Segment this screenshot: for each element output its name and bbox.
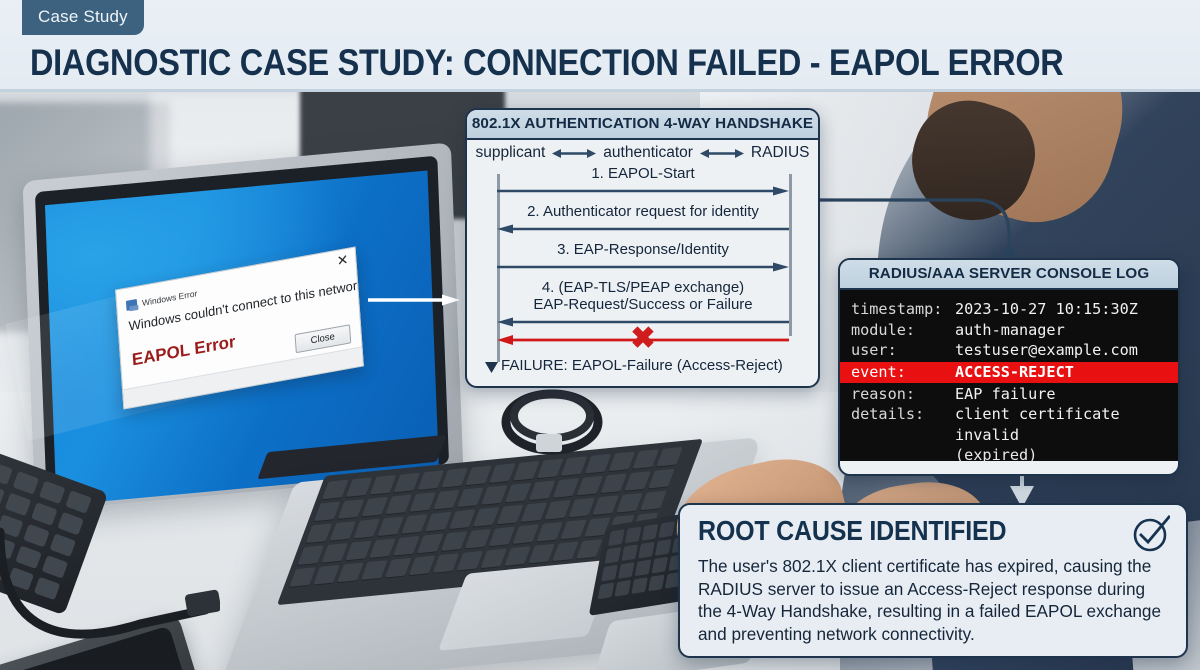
log-row: reason:EAP failure — [851, 384, 1170, 405]
arrow-right-1 — [497, 185, 789, 197]
actor-authenticator: authenticator — [603, 144, 693, 162]
actor-supplicant: supplicant — [476, 144, 546, 162]
arrow-down-icon — [485, 359, 498, 373]
log-row-alert: event:ACCESS-REJECT — [840, 362, 1178, 383]
log-value: EAP failure — [955, 384, 1056, 405]
log-value: client certificate invalid — [955, 404, 1170, 445]
log-row: timestamp:2023-10-27 10:15:30Z — [851, 299, 1170, 320]
page-title: DIAGNOSTIC CASE STUDY: CONNECTION FAILED… — [30, 42, 1063, 84]
console-log-body: timestamp:2023-10-27 10:15:30Zmodule:aut… — [840, 290, 1178, 461]
handshake-step-4: 4. (EAP-TLS/PEAP exchange)EAP-Request/Su… — [497, 280, 789, 327]
actor-radius: RADIUS — [751, 144, 810, 162]
handshake-failure-label: FAILURE: EAPOL-Failure (Access-Reject) — [485, 357, 783, 374]
step-3-label: 3. EAP-Response/Identity — [497, 242, 789, 259]
arrow-left-2 — [497, 223, 789, 235]
lifeline-radius — [789, 174, 792, 336]
log-value: 2023-10-27 10:15:30Z — [955, 299, 1138, 320]
step-1-label: 1. EAPOL-Start — [497, 166, 789, 183]
case-study-badge: Case Study — [22, 0, 144, 35]
log-row: details:client certificate invalid — [851, 404, 1170, 445]
arrow-dialog-to-handshake — [368, 294, 460, 306]
log-row: user:testuser@example.com — [851, 340, 1170, 361]
handshake-step-3: 3. EAP-Response/Identity — [497, 242, 789, 272]
console-log-title: RADIUS/AAA SERVER CONSOLE LOG — [840, 260, 1178, 290]
handshake-failure-arrow: ✖ — [497, 332, 789, 349]
header: Case Study DIAGNOSTIC CASE STUDY: CONNEC… — [0, 0, 1200, 92]
check-circle-icon — [1132, 515, 1170, 553]
handshake-step-2: 2. Authenticator request for identity — [497, 204, 789, 234]
log-value: ACCESS-REJECT — [955, 362, 1074, 383]
dialog-message: Windows couldn't connect to this network — [128, 276, 364, 333]
handshake-body: supplicant authenticator RADIUS 1. EA — [467, 140, 818, 378]
log-value: testuser@example.com — [955, 340, 1138, 361]
handshake-actors: supplicant authenticator RADIUS — [467, 144, 818, 162]
infographic-root: Case Study DIAGNOSTIC CASE STUDY: CONNEC… — [0, 0, 1200, 670]
console-log-panel: RADIUS/AAA SERVER CONSOLE LOG timestamp:… — [838, 258, 1180, 476]
log-key: timestamp: — [851, 299, 955, 320]
arrow-right-3 — [497, 261, 789, 273]
step-4-label: 4. (EAP-TLS/PEAP exchange)EAP-Request/Su… — [497, 280, 789, 314]
failure-x-icon: ✖ — [630, 324, 655, 354]
log-key: details: — [851, 404, 955, 445]
windows-error-icon — [126, 299, 138, 311]
step-2-label: 2. Authenticator request for identity — [497, 204, 789, 221]
dialog-error-code: EAPOL Error — [131, 332, 236, 371]
log-key: event: — [851, 362, 955, 383]
handshake-step-1: 1. EAPOL-Start — [497, 166, 789, 196]
log-row: module:auth-manager — [851, 320, 1170, 341]
bidirectional-arrow-icon-2 — [700, 147, 744, 160]
handshake-panel: 802.1X AUTHENTICATION 4-WAY HANDSHAKE su… — [465, 108, 820, 388]
root-cause-body: The user's 802.1X client certificate has… — [698, 555, 1170, 645]
log-value-continuation: (expired) — [851, 446, 1170, 464]
handshake-title: 802.1X AUTHENTICATION 4-WAY HANDSHAKE — [467, 110, 818, 140]
root-cause-panel: ROOT CAUSE IDENTIFIED The user's 802.1X … — [678, 503, 1188, 658]
close-icon[interactable]: ✕ — [336, 251, 349, 270]
log-key: user: — [851, 340, 955, 361]
log-key: module: — [851, 320, 955, 341]
bidirectional-arrow-icon — [552, 147, 596, 160]
dialog-title: Windows Error — [142, 288, 198, 308]
failure-text: FAILURE: EAPOL-Failure (Access-Reject) — [501, 357, 783, 374]
root-cause-title: ROOT CAUSE IDENTIFIED — [698, 516, 1006, 548]
log-key: reason: — [851, 384, 955, 405]
log-value: auth-manager — [955, 320, 1065, 341]
